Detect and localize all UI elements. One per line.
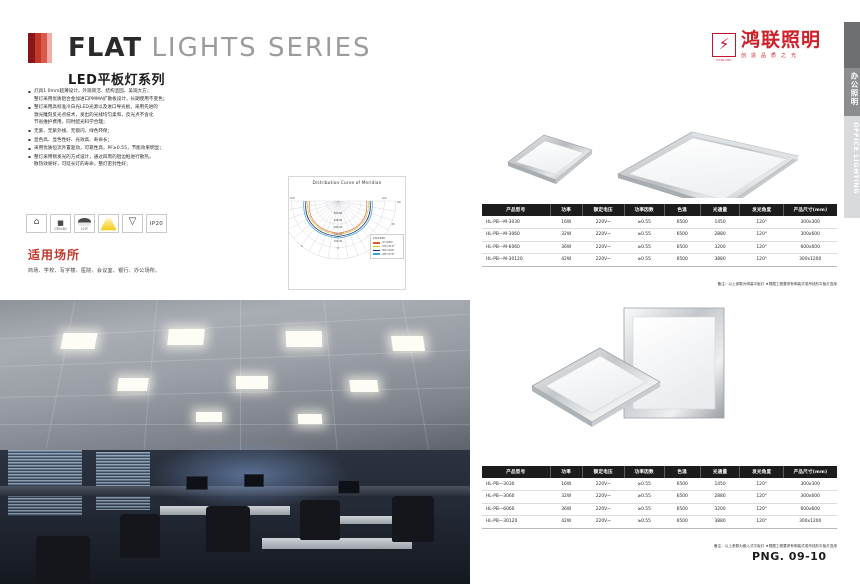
cell-model: HL-PB—3030 xyxy=(482,478,550,490)
cell-value: 120° xyxy=(740,216,783,228)
legend-swatch xyxy=(373,246,380,248)
cell-value: ≥0.55 xyxy=(624,254,664,267)
cell-value: 220V~ xyxy=(582,241,624,254)
ceiling-panel-light xyxy=(196,412,222,422)
legend-item: c90°/270° xyxy=(373,253,401,256)
spec-table-recessed: 产品型号 功率 额定电压 功率因数 色温 光通量 发光角度 产品尺寸(mm) H… xyxy=(482,466,837,529)
title-subtitle: LED平板灯系列 xyxy=(68,69,372,88)
catalog-page: FLAT LIGHTS SERIES LED平板灯系列 灯具1 0mm超薄设计，… xyxy=(0,0,860,584)
cell-value: 120° xyxy=(740,478,783,490)
cell-value: 6500 xyxy=(664,241,700,254)
feature-item: 整灯采用高标准冷白光LED光源以及进口导光板，采用先进的 激光雕刻反光点技术，发… xyxy=(28,104,250,127)
ceiling-panel-light xyxy=(167,329,205,345)
cell-value: ≥0.55 xyxy=(624,228,664,241)
table-row: HL-PB—306032W220V~≥0.5565002880120°300x6… xyxy=(482,490,837,503)
cell-value: 120° xyxy=(740,503,783,516)
house-icon-glyph: ⌂ xyxy=(27,217,46,228)
office-chair xyxy=(36,536,90,584)
cell-value: 120° xyxy=(740,228,783,241)
left-column: FLAT LIGHTS SERIES LED平板灯系列 灯具1 0mm超薄设计，… xyxy=(0,0,470,584)
cell-value: 300x300 xyxy=(783,216,837,228)
th-power: 功率 xyxy=(550,204,582,216)
th-power-factor: 功率因数 xyxy=(624,466,664,478)
office-interior-photo: HONLAND PRODUCT HANDBOOK WWW.HONLAND-LIG… xyxy=(0,300,470,584)
monitor xyxy=(244,474,264,487)
side-tab-label-cn: 办公照明 xyxy=(844,72,860,106)
ceiling-panel-light xyxy=(349,380,378,392)
cell-value: 600x600 xyxy=(783,503,837,516)
cell-model: HL-PB—M-30120 xyxy=(482,254,550,267)
square-panel-300x300 xyxy=(508,135,592,184)
cell-model: HL-PB—6060 xyxy=(482,503,550,516)
feature-item: 采用优质恒流外置驱动，可靠性高，PF≥0.55，节能效果明显； xyxy=(28,145,250,153)
table-row: HL-PB—303016W220V~≥0.5565001450120°300x3… xyxy=(482,478,837,490)
ceiling-panel-light xyxy=(286,331,323,347)
legend-item: c0°/180° xyxy=(373,241,401,244)
legend-label: c30°/210° xyxy=(382,245,395,248)
table-body-1: HL-PB—M-303016W220V~≥0.5565001450120°300… xyxy=(482,216,837,266)
cell-value: 6500 xyxy=(664,478,700,490)
cell-value: ≥0.55 xyxy=(624,241,664,254)
th-dimensions: 产品尺寸(mm) xyxy=(783,466,837,478)
polar-svg: 810.00 648.00 486.00 324.00 162.00 120 1… xyxy=(289,185,407,273)
office-chair xyxy=(392,496,434,542)
feature-item: 整灯采用侧发光的方式设计，通过四周的铝边框进行散热， 散热效果好，可延长灯的寿命… xyxy=(28,154,250,169)
cell-value: 16W xyxy=(550,216,582,228)
radial-label: 162.00 xyxy=(334,240,343,243)
cell-value: 1450 xyxy=(700,478,740,490)
table-header-row: 产品型号 功率 额定电压 功率因数 色温 光通量 发光角度 产品尺寸(mm) xyxy=(482,204,837,216)
th-beam-angle: 发光角度 xyxy=(740,204,783,216)
cell-model: HL-PB—M-3060 xyxy=(482,228,550,241)
cell-value: 300x1200 xyxy=(783,516,837,529)
title-accent-bars xyxy=(28,33,54,63)
cell-value: 6500 xyxy=(664,254,700,267)
cell-value: 220V~ xyxy=(582,254,624,267)
panel-lights-svg-b xyxy=(496,300,826,450)
house-icon: ⌂ xyxy=(26,214,47,233)
office-chair xyxy=(120,514,160,558)
feature-list: 灯具1 0mm超薄设计，外观简洁、结构坚固、美观大方； 整灯采用优质铝合金加进口… xyxy=(28,88,250,170)
th-beam-angle: 发光角度 xyxy=(740,466,783,478)
th-power-factor: 功率因数 xyxy=(624,204,664,216)
table-note-2: 备注：以上参数为嵌入式平板灯 ★根据工程要求有明装式或吊线形平板灯选用 xyxy=(482,544,837,549)
cell-value: 220V~ xyxy=(582,228,624,241)
polar-plot: 810.00 648.00 486.00 324.00 162.00 120 1… xyxy=(289,185,407,273)
th-dimensions: 产品尺寸(mm) xyxy=(783,204,837,216)
th-lumens: 光通量 xyxy=(700,204,740,216)
cell-value: 600x600 xyxy=(783,241,837,254)
cell-value: 220V~ xyxy=(582,503,624,516)
th-power: 功率 xyxy=(550,466,582,478)
angle-tick-center: 0 xyxy=(337,246,339,250)
beam-angle-caption: 120° xyxy=(75,227,94,231)
panel-lights-svg-a xyxy=(496,112,826,198)
side-tab-label-en: OFFICE LIGHTING xyxy=(844,122,860,194)
ceiling-panel-light xyxy=(298,414,323,424)
office-chair xyxy=(300,500,340,540)
cell-value: 300x1200 xyxy=(783,254,837,267)
legend-swatch xyxy=(373,250,380,252)
feature-item: 无紫、无紫外线、无锁闪、绿色环保； xyxy=(28,128,250,136)
cell-value: 6500 xyxy=(664,216,700,228)
light-distribution-chart: Distribution Curve of Meridian xyxy=(288,176,406,290)
legend-title: C0/C180 xyxy=(373,236,401,240)
legend-item: c60°/240° xyxy=(373,249,401,252)
light-beam-icon xyxy=(98,214,119,233)
legend-label: c90°/270° xyxy=(382,253,395,256)
cell-value: 300x300 xyxy=(783,478,837,490)
chart-legend: C0/C180 c0°/180° c30°/210° c60°/240° xyxy=(370,234,404,259)
cell-value: ≥0.55 xyxy=(624,478,664,490)
bolt-icon: ⚡ xyxy=(719,37,730,52)
cell-value: 120° xyxy=(740,241,783,254)
cell-value: 1450 xyxy=(700,216,740,228)
legend-swatch xyxy=(373,253,380,255)
company-logo: ⚡ HONLAND 鸿联照明 创造品质之光 xyxy=(712,30,821,59)
cell-value: 36W xyxy=(550,241,582,254)
cell-value: 3880 xyxy=(700,516,740,529)
cell-value: ≥0.55 xyxy=(624,490,664,503)
legend-label: c0°/180° xyxy=(382,241,394,244)
no-flicker-glyph: ▽ xyxy=(123,216,142,227)
cell-value: 220V~ xyxy=(582,216,624,228)
side-tab-top xyxy=(844,22,860,68)
cell-value: 300x600 xyxy=(783,228,837,241)
honland-mark-icon: ⚡ HONLAND xyxy=(712,33,736,57)
feature-line: 散热效果好，可延长灯的寿命，整灯密封性好； xyxy=(34,161,250,169)
section-side-tab: 办公照明 OFFICE LIGHTING xyxy=(844,22,860,218)
monitor xyxy=(338,480,360,494)
table-row: HL-PB—M-306032W220V~≥0.5565002880120°300… xyxy=(482,228,837,241)
cell-value: 3200 xyxy=(700,503,740,516)
cell-value: 2880 xyxy=(700,490,740,503)
spec-icon-row: ⌂ ■ CRI>80 120° ▽ IP20 xyxy=(26,214,167,233)
no-flicker-icon: ▽ xyxy=(122,214,143,233)
angle-tick: 60 xyxy=(397,200,401,204)
applicable-places: 适用场所 商场、学校、写字楼、医院、会议室、银行、办公场所。 xyxy=(28,246,161,274)
feature-item: 灯具1 0mm超薄设计，外观简洁、结构坚固、美观大方； 整灯采用优质铝合金加进口… xyxy=(28,88,250,103)
table-note-1: 备注：以上参数为明装平板灯 ★根据工程要求有明装式或吊线形平板灯选用 xyxy=(482,282,837,287)
table-row: HL-PB—M-303016W220V~≥0.5565001450120°300… xyxy=(482,216,837,228)
feature-line: 采用优质恒流外置驱动，可靠性高，PF≥0.55，节能效果明显； xyxy=(34,145,250,153)
cell-value: 120° xyxy=(740,490,783,503)
cell-value: 3200 xyxy=(700,241,740,254)
logo-mark-caption: HONLAND xyxy=(713,59,735,62)
legend-item: c30°/210° xyxy=(373,245,401,248)
logo-tagline: 创造品质之光 xyxy=(741,52,821,59)
rect-panel-300x1200 xyxy=(618,132,798,198)
cell-value: 42W xyxy=(550,516,582,529)
th-voltage: 额定电压 xyxy=(582,204,624,216)
ceiling-panel-light xyxy=(60,333,97,349)
cell-value: ≥0.55 xyxy=(624,516,664,529)
product-image-surface-mount xyxy=(496,112,826,198)
title-flat: FLAT xyxy=(68,33,142,63)
spec-table-surface-mount: 产品型号 功率 额定电压 功率因数 色温 光通量 发光角度 产品尺寸(mm) H… xyxy=(482,204,837,267)
cell-value: 32W xyxy=(550,490,582,503)
cri-icon-caption: CRI>80 xyxy=(51,227,70,231)
angle-tick: 120 xyxy=(382,196,387,200)
window-blinds xyxy=(96,452,150,510)
ceiling-panel-light xyxy=(117,378,149,391)
window-blinds xyxy=(8,450,82,516)
title-rest: LIGHTS SERIES xyxy=(151,33,371,63)
table-header-row: 产品型号 功率 额定电压 功率因数 色温 光通量 发光角度 产品尺寸(mm) xyxy=(482,466,837,478)
table-row: HL-PB—3012042W220V~≥0.5565003880120°300x… xyxy=(482,516,837,529)
radial-label: 324.00 xyxy=(334,233,343,236)
th-cct: 色温 xyxy=(664,466,700,478)
th-cct: 色温 xyxy=(664,204,700,216)
cell-value: 6500 xyxy=(664,228,700,241)
page-title: FLAT LIGHTS SERIES LED平板灯系列 xyxy=(30,33,372,88)
th-lumens: 光通量 xyxy=(700,466,740,478)
feature-line: 整灯采用高标准冷白光LED光源以及进口导光板，采用先进的 xyxy=(34,104,250,112)
feature-line: 激光雕刻反光点技术，发出的光线均匀柔和，反光点不含化 xyxy=(34,112,250,120)
logo-name-cn: 鸿联照明 xyxy=(741,30,821,50)
cell-value: 32W xyxy=(550,228,582,241)
cell-value: 6500 xyxy=(664,516,700,529)
ceiling-panel-light xyxy=(236,376,268,389)
cell-model: HL-PB—M-6060 xyxy=(482,241,550,254)
cell-value: ≥0.55 xyxy=(624,216,664,228)
cell-value: 6500 xyxy=(664,490,700,503)
feature-item: 显色高、显色性好、光效高、寿命长； xyxy=(28,137,250,145)
cell-value: 220V~ xyxy=(582,490,624,503)
ceiling xyxy=(0,300,470,450)
light-beam-shape xyxy=(99,215,118,232)
feature-line: 整灯采用优质铝合金加进口PMMA扩散板设计，长期使用不变色； xyxy=(34,96,250,104)
beam-angle-icon: 120° xyxy=(74,214,95,233)
table-row: HL-PB—606036W220V~≥0.5565003200120°600x6… xyxy=(482,503,837,516)
radial-label: 486.00 xyxy=(334,226,343,229)
ip-rating-icon: IP20 xyxy=(146,214,167,233)
ceiling-panel-light xyxy=(391,336,425,351)
feature-line: 灯具1 0mm超薄设计，外观简洁、结构坚固、美观大方； xyxy=(34,88,250,96)
cell-model: HL-PB—30120 xyxy=(482,516,550,529)
cell-value: 3880 xyxy=(700,254,740,267)
cell-value: 36W xyxy=(550,503,582,516)
feature-line: 显色高、显色性好、光效高、寿命长； xyxy=(34,137,250,145)
cell-value: 120° xyxy=(740,516,783,529)
legend-swatch xyxy=(373,242,380,244)
lamp-shape-icon xyxy=(78,218,91,226)
table-row: HL-PB—M-3012042W220V~≥0.5565003880120°30… xyxy=(482,254,837,267)
vertical-panel-300x1200 xyxy=(624,308,724,418)
cell-model: HL-PB—3060 xyxy=(482,490,550,503)
radial-label: 810.00 xyxy=(334,212,343,215)
title-main: FLAT LIGHTS SERIES xyxy=(68,33,372,63)
page-number: PNG. 09-10 xyxy=(752,550,827,563)
office-chair xyxy=(206,506,250,552)
legend-label: c60°/240° xyxy=(382,249,395,252)
feature-line: 节省维护费用，同时配光科学合理； xyxy=(34,119,250,127)
th-voltage: 额定电压 xyxy=(582,466,624,478)
th-model: 产品型号 xyxy=(482,204,550,216)
angle-tick: 120 xyxy=(290,196,295,200)
angle-tick: 30 xyxy=(391,222,395,226)
radial-label: 648.00 xyxy=(334,219,343,222)
cell-value: 16W xyxy=(550,478,582,490)
cell-model: HL-PB—M-3030 xyxy=(482,216,550,228)
th-model: 产品型号 xyxy=(482,466,550,478)
cell-value: 220V~ xyxy=(582,478,624,490)
product-image-recessed xyxy=(496,300,826,450)
ceiling-grid xyxy=(0,300,470,450)
feature-line: 无紫、无紫外线、无锁闪、绿色环保； xyxy=(34,128,250,136)
cell-value: 220V~ xyxy=(582,516,624,529)
cell-value: ≥0.55 xyxy=(624,503,664,516)
cell-value: 2880 xyxy=(700,228,740,241)
cell-value: 42W xyxy=(550,254,582,267)
applicable-places-heading: 适用场所 xyxy=(28,246,161,263)
table-body-2: HL-PB—303016W220V~≥0.5565001450120°300x3… xyxy=(482,478,837,528)
cell-value: 6500 xyxy=(664,503,700,516)
applicable-places-text: 商场、学校、写字楼、医院、会议室、银行、办公场所。 xyxy=(28,267,161,274)
feature-line: 整灯采用侧发光的方式设计，通过四周的铝边框进行散热， xyxy=(34,154,250,162)
table-row: HL-PB—M-606036W220V~≥0.5565003200120°600… xyxy=(482,241,837,254)
ip-rating-label: IP20 xyxy=(147,215,166,232)
cell-value: 300x600 xyxy=(783,490,837,503)
cri-icon: ■ CRI>80 xyxy=(50,214,71,233)
monitor xyxy=(186,476,208,490)
cell-value: 120° xyxy=(740,254,783,267)
